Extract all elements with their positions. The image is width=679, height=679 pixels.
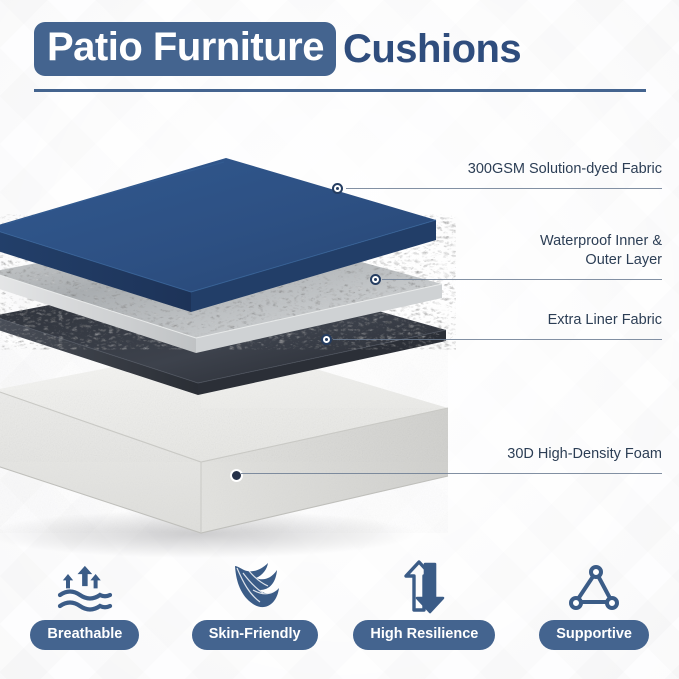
ring-marker-icon: [321, 334, 332, 345]
feature-breathable: Breathable: [0, 556, 170, 666]
title-badge-highlight: Patio Furniture: [34, 22, 336, 76]
header-divider: [34, 89, 646, 92]
title-plain-text: Cushions: [336, 26, 521, 72]
breathable-arrows-waves-icon: [53, 556, 117, 614]
up-down-arrows-icon: [398, 556, 450, 614]
triangle-nodes-icon: [566, 556, 622, 614]
page-title: Patio Furniture Cushions: [34, 22, 521, 76]
dot-marker-icon: [230, 469, 243, 482]
feature-skin-friendly: Skin-Friendly: [170, 556, 340, 666]
leader-line: [382, 279, 662, 280]
feature-supportive-label[interactable]: Supportive: [539, 620, 649, 650]
feature-supportive: Supportive: [509, 556, 679, 666]
callout-foam-label: 30D High-Density Foam: [507, 445, 662, 464]
cushion-layer-illustration: [0, 140, 456, 560]
feature-badge-row: Breathable Skin-Friendly: [0, 556, 679, 666]
feature-breathable-label[interactable]: Breathable: [30, 620, 139, 650]
feature-high-resilience-label[interactable]: High Resilience: [353, 620, 495, 650]
feather-icon: [227, 556, 283, 614]
header: Patio Furniture Cushions: [0, 18, 679, 90]
leader-line: [333, 339, 662, 340]
feature-high-resilience: High Resilience: [340, 556, 510, 666]
ring-marker-icon: [370, 274, 381, 285]
callout-liner-label: Extra Liner Fabric: [548, 311, 662, 330]
ring-marker-icon: [332, 183, 343, 194]
infographic-page: Patio Furniture Cushions: [0, 0, 679, 679]
leader-line: [346, 188, 662, 189]
leader-line: [241, 473, 662, 474]
callout-waterproof-label: Waterproof Inner & Outer Layer: [540, 232, 662, 270]
feature-skin-friendly-label[interactable]: Skin-Friendly: [192, 620, 318, 650]
callout-fabric-label: 300GSM Solution-dyed Fabric: [468, 160, 662, 179]
